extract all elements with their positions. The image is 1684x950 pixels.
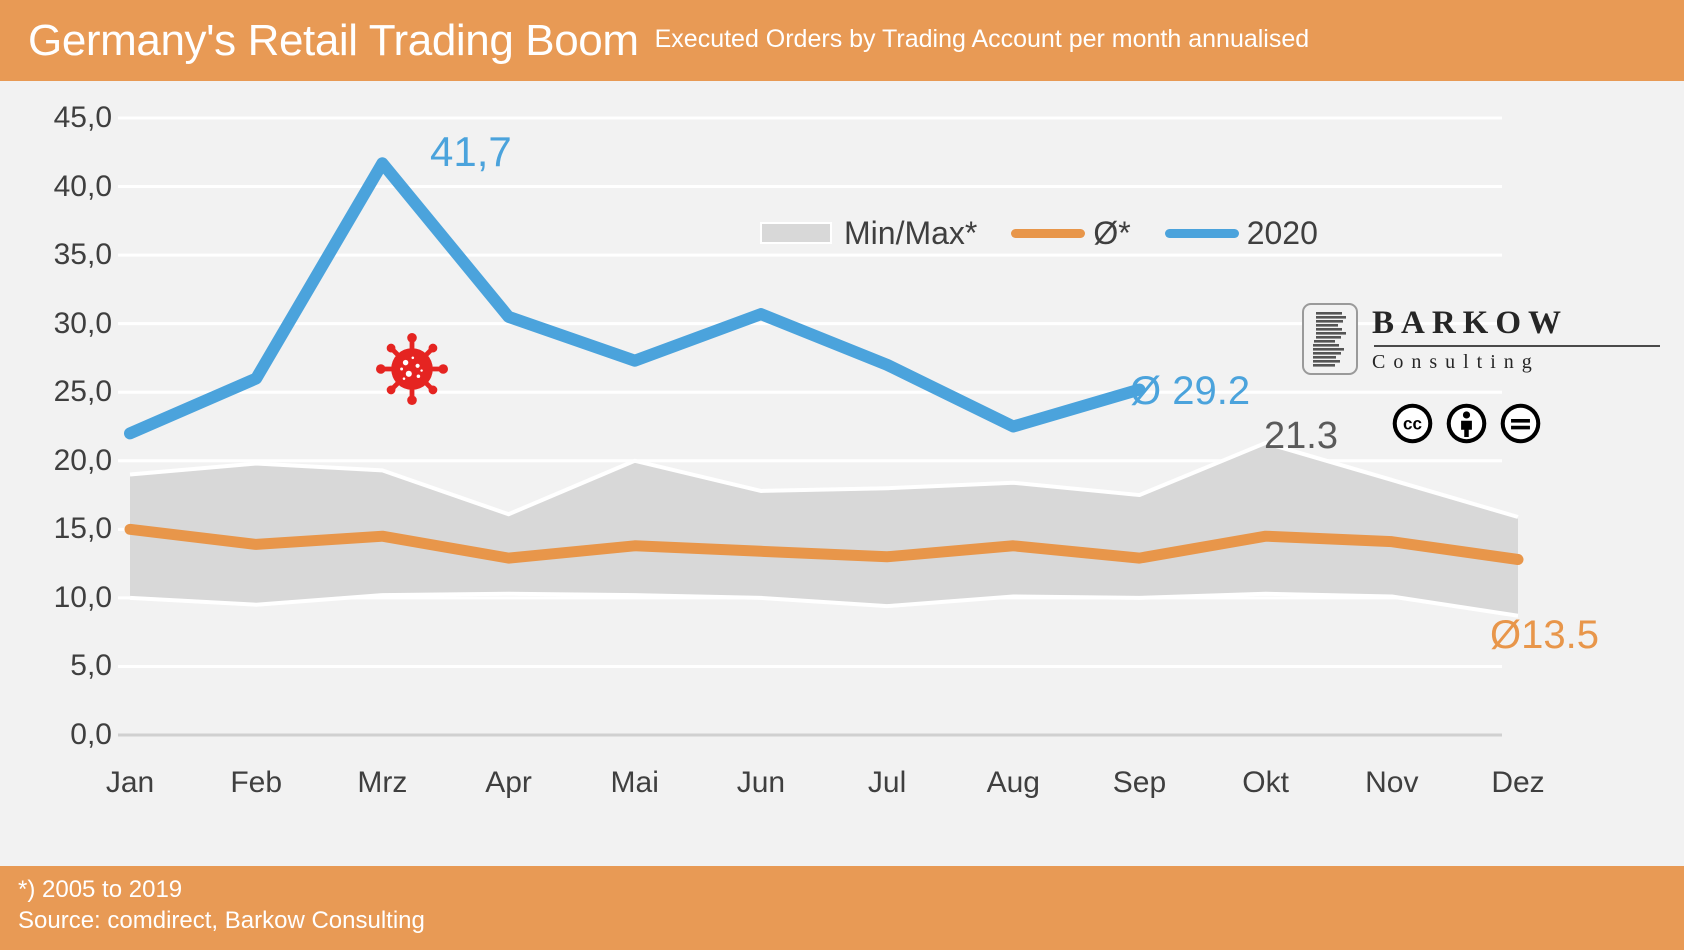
x-axis-tick-label: Apr [449, 768, 569, 798]
legend-item-2020[interactable]: 2020 [1165, 217, 1318, 249]
chart-subtitle: Executed Orders by Trading Account per m… [655, 27, 1310, 55]
x-axis-tick-label: Sep [1079, 768, 1199, 798]
barkow-logo: BARKOW Consulting [1302, 303, 1660, 375]
creative-commons-badges: cc [1390, 401, 1543, 446]
legend-swatch-orange-line-icon [1011, 229, 1085, 238]
chart-legend[interactable]: Min/Max* Ø* 2020 [760, 217, 1318, 249]
header-bar: Germany's Retail Trading Boom Executed O… [0, 0, 1684, 81]
by-person-icon [1444, 401, 1489, 446]
chart-title: Germany's Retail Trading Boom [28, 19, 639, 63]
y-axis-tick-label: 45,0 [16, 103, 112, 133]
y-axis-tick-label: 35,0 [16, 240, 112, 270]
y-axis-tick-label: 0,0 [16, 720, 112, 750]
footnote-text: *) 2005 to 2019 [18, 874, 1684, 905]
barkow-mark-icon [1302, 303, 1358, 375]
x-axis-tick-label: Mai [575, 768, 695, 798]
y-axis-tick-label: 25,0 [16, 377, 112, 407]
x-axis-tick-label: Mrz [322, 768, 442, 798]
data-label-2020-average: Ø 29.2 [1130, 371, 1250, 411]
legend-item-minmax[interactable]: Min/Max* [760, 217, 977, 249]
x-axis-tick-label: Jul [827, 768, 947, 798]
nd-equals-icon [1498, 401, 1543, 446]
cc-icon: cc [1390, 401, 1435, 446]
legend-swatch-blue-line-icon [1165, 229, 1239, 238]
chart-canvas: Germany's Retail Trading Boom Executed O… [0, 0, 1684, 950]
data-label-orange-average: Ø13.5 [1490, 615, 1599, 655]
barkow-wordmark: BARKOW Consulting [1372, 306, 1660, 373]
y-axis-tick-label: 15,0 [16, 514, 112, 544]
x-axis-tick-label: Dez [1458, 768, 1578, 798]
legend-swatch-band-icon [760, 222, 832, 244]
data-label-peak: 41,7 [430, 131, 512, 173]
y-axis-tick-label: 30,0 [16, 309, 112, 339]
x-axis-tick-label: Aug [953, 768, 1073, 798]
footer-bar: *) 2005 to 2019 Source: comdirect, Barko… [0, 866, 1684, 950]
y-axis-tick-label: 20,0 [16, 446, 112, 476]
barkow-name: BARKOW [1372, 306, 1660, 340]
legend-item-average[interactable]: Ø* [1011, 217, 1130, 249]
x-axis-tick-label: Jan [70, 768, 190, 798]
x-axis-tick-label: Feb [196, 768, 316, 798]
barkow-subtitle: Consulting [1372, 351, 1660, 373]
source-text: Source: comdirect, Barkow Consulting [18, 905, 1684, 936]
minmax-band [130, 443, 1518, 616]
coronavirus-icon [372, 329, 452, 409]
legend-label-average: Ø* [1093, 217, 1130, 249]
y-axis-tick-label: 5,0 [16, 651, 112, 681]
legend-label-minmax: Min/Max* [844, 217, 977, 249]
y-axis-tick-label: 10,0 [16, 583, 112, 613]
x-axis-tick-label: Okt [1206, 768, 1326, 798]
x-axis-tick-label: Nov [1332, 768, 1452, 798]
y-axis-tick-label: 40,0 [16, 172, 112, 202]
plot-svg [0, 81, 1684, 866]
barkow-divider [1374, 345, 1660, 347]
data-label-band-max: 21.3 [1264, 417, 1338, 455]
x-axis-tick-label: Jun [701, 768, 821, 798]
svg-text:cc: cc [1403, 414, 1422, 433]
legend-label-2020: 2020 [1247, 217, 1318, 249]
plot-area: 0,05,010,015,020,025,030,035,040,045,0 J… [0, 81, 1684, 866]
